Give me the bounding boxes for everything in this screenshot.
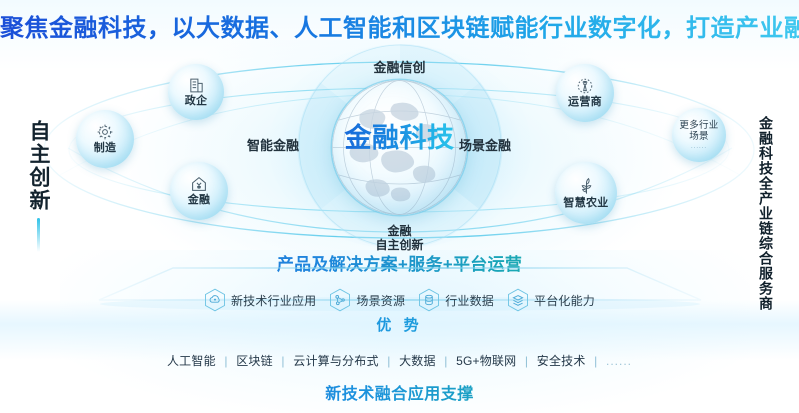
tech-item: 云计算与分布式 [293,354,378,368]
left-side-annotation: 自主创新 [18,112,58,252]
tech-item: 安全技术 [537,354,586,368]
center-label-right: 场景金融 [459,135,511,154]
bubble-manufacturing[interactable]: 制造 [76,110,134,168]
left-vertical-text: 自主创新 [25,120,51,212]
technology-row: 人工智能 | 区块链 | 云计算与分布式 | 大数据 | 5G+物联网 | 安全… [0,352,799,369]
tech-separator: | [224,354,227,368]
advantage-tag: 优 势 [0,314,799,335]
capability-item-platform-capability[interactable]: 平台化能力 [507,288,595,312]
capability-label: 行业数据 [445,292,494,309]
bubble-operator[interactable]: 运营商 [556,64,614,122]
capability-item-industry-data[interactable]: 行业数据 [418,288,494,312]
capability-item-new-tech-application[interactable]: 新技术行业应用 [204,288,316,312]
network-hex-icon [329,288,351,312]
right-side-annotation: 金融科技全产业链综合服务商 [757,116,791,311]
gear-icon [96,123,114,141]
bubble-government-enterprise[interactable]: 政企 [168,64,224,120]
building-icon [188,77,205,94]
tech-ellipsis: ...... [606,354,632,368]
layers-hex-icon [507,288,529,312]
tech-item: 5G+物联网 [456,354,516,368]
bubble-sub-label: ...... [691,144,707,150]
tech-item: 区块链 [236,354,273,368]
tech-item: 大数据 [399,354,436,368]
infographic-canvas: 聚焦金融科技，以大数据、人工智能和区块链赋能行业数字化，打造产业融合新生态 [0,0,799,413]
database-hex-icon [418,288,440,312]
bubble-more-scenarios[interactable]: 更多行业场景 ...... [672,108,726,162]
center-label-top: 金融信创 [0,57,799,76]
tech-item: 人工智能 [167,354,216,368]
center-label-left: 智能金融 [247,135,299,154]
cloud-hex-icon [204,288,226,312]
bubble-label: 政企 [185,95,208,108]
tech-separator: | [594,354,597,368]
decor-tail [37,218,40,252]
capability-label: 场景资源 [356,292,405,309]
antenna-icon [576,77,594,95]
wheat-icon [577,177,596,196]
capability-label: 平台化能力 [534,292,595,309]
bubble-smart-agriculture[interactable]: 智慧农业 [555,162,617,224]
right-vertical-text: 金融科技全产业链综合服务商 [757,116,775,311]
bubble-label: 智慧农业 [563,197,608,210]
tech-separator: | [281,354,284,368]
bubble-label: 金融 [188,194,211,207]
globe-center-label: 金融科技 [332,123,467,153]
bank-house-icon [190,175,208,193]
tech-separator: | [444,354,447,368]
bubble-label: 更多行业场景 [672,120,726,142]
capability-item-scenario-resources[interactable]: 场景资源 [329,288,405,312]
support-tag: 新技术融合应用支撑 [0,380,799,404]
capability-row: 新技术行业应用 场景资源 行业数据 [0,288,799,312]
bubble-finance[interactable]: 金融 [170,162,228,220]
bubble-label: 运营商 [568,96,602,109]
tech-separator: | [525,354,528,368]
capability-label: 新技术行业应用 [231,292,316,309]
bubble-label: 制造 [94,142,117,155]
tech-separator: | [387,354,390,368]
